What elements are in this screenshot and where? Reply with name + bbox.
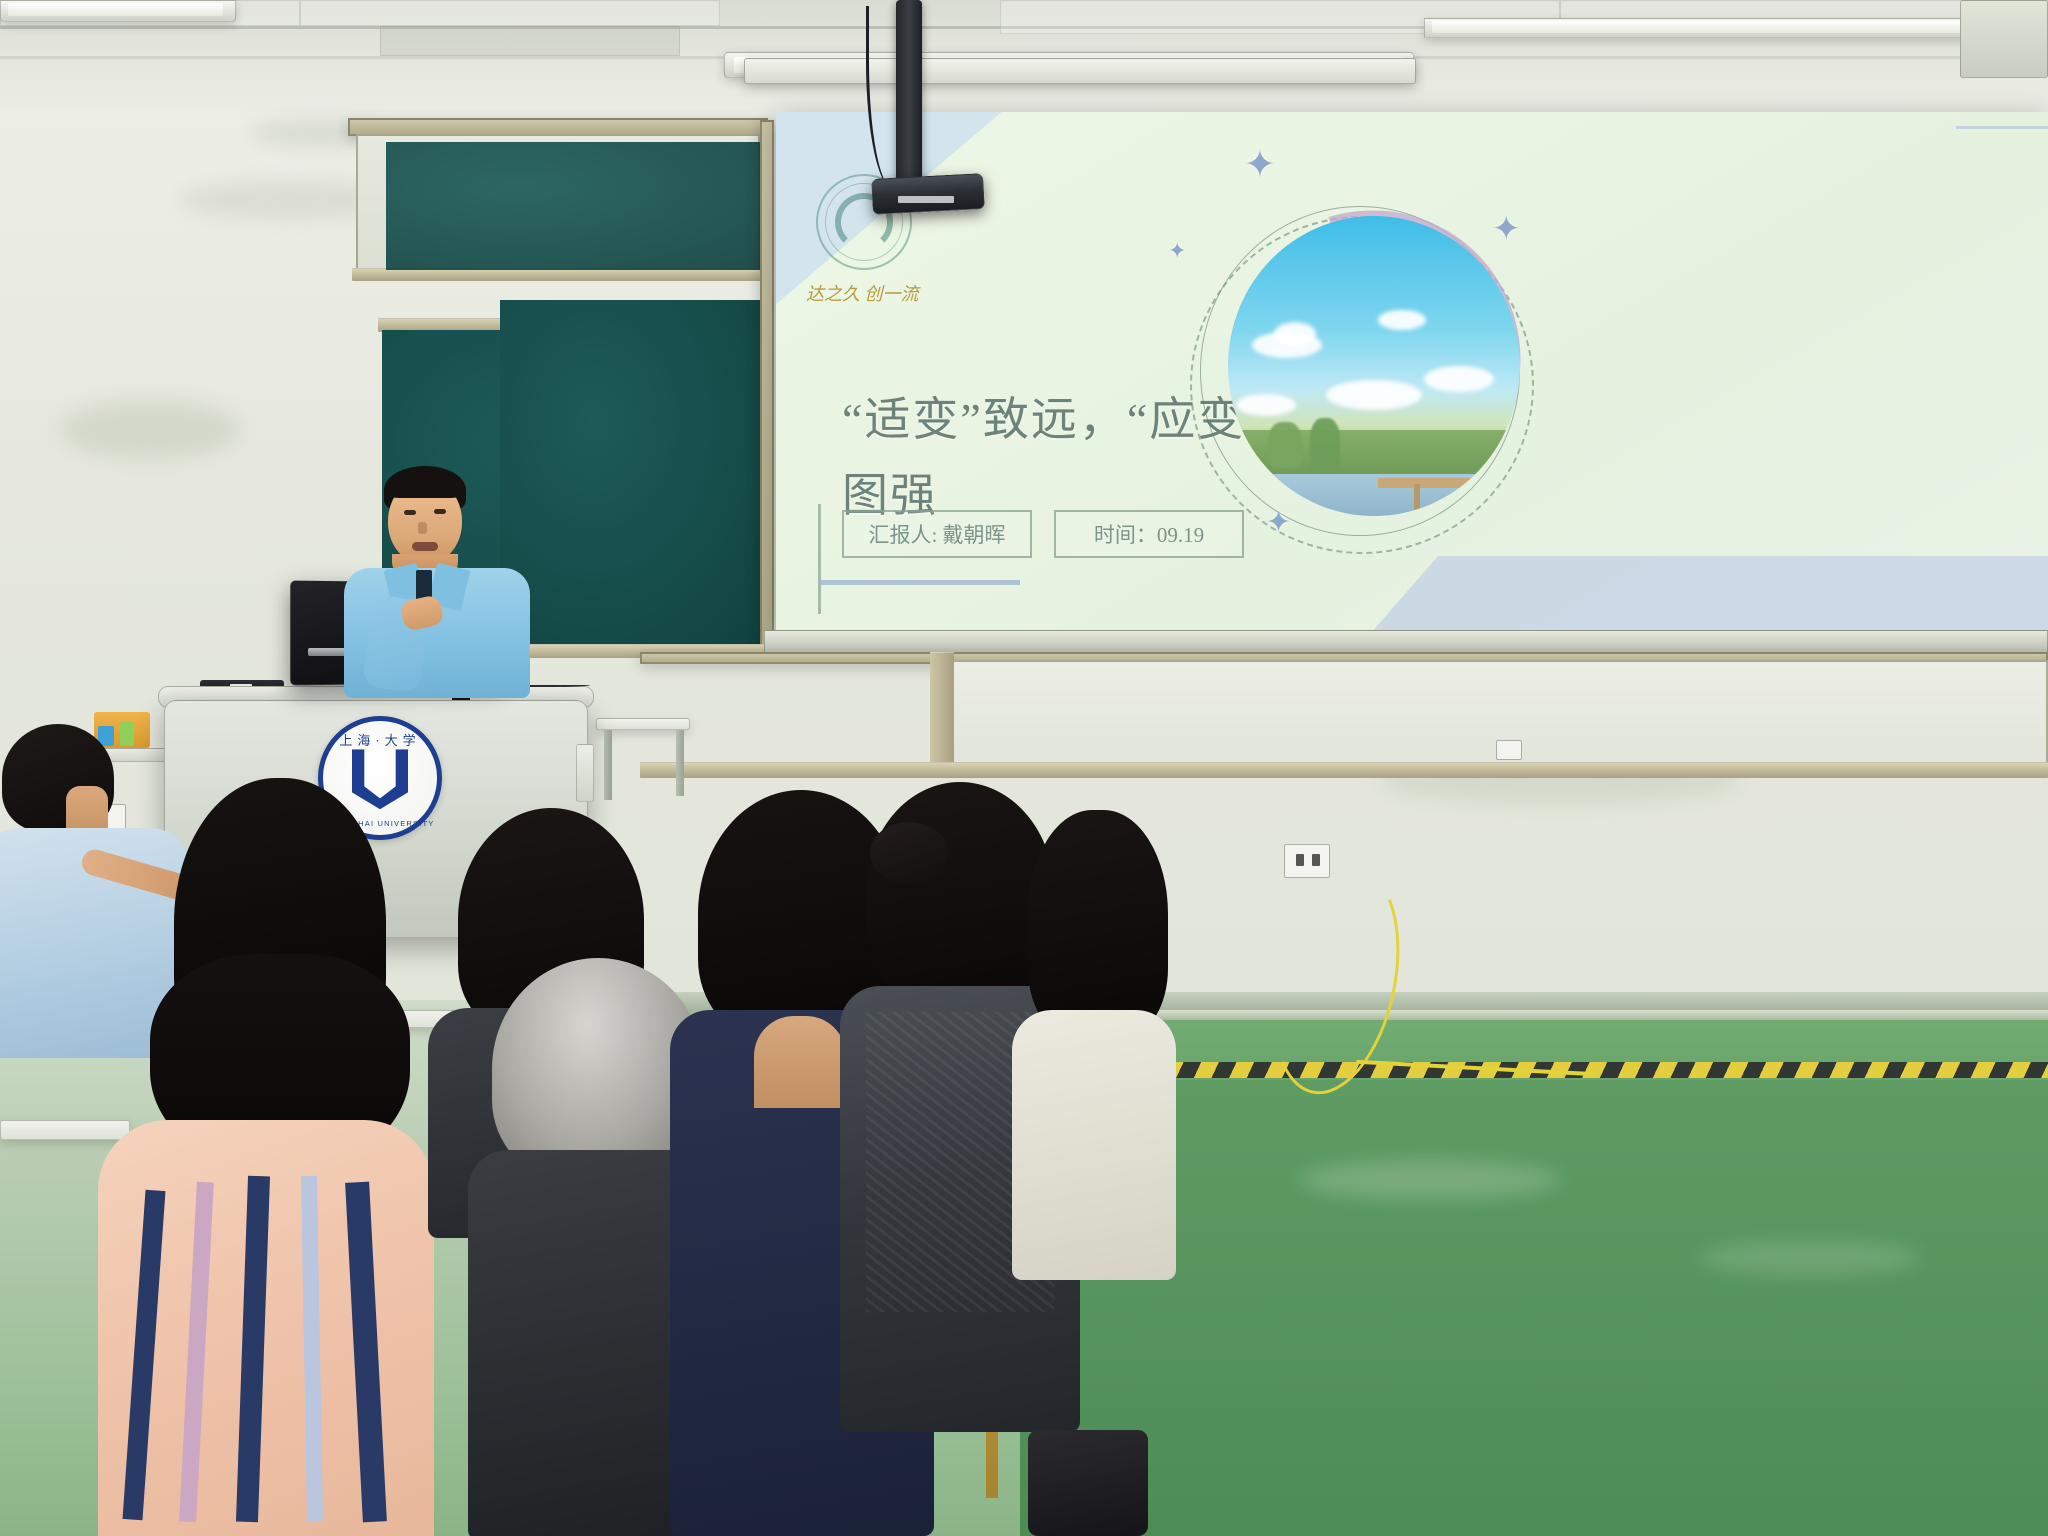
floor-platform-edge [1030,1010,2048,1020]
slide-underline [820,580,1020,585]
sparkle-icon: ✦ [1168,240,1186,262]
slide-top-rule [1956,126,2048,129]
wall-outlet-panel [1284,844,1330,878]
presenter-info-box: 汇报人: 戴朝晖 [842,510,1032,558]
podium-side-panel [576,744,594,802]
wall-panel [940,660,2048,766]
slide-info-divider [818,504,821,614]
neck [754,1016,846,1108]
wall-outlet [1496,740,1522,760]
sparkle-icon: ✦ [1266,508,1291,538]
handbag [1028,1430,1148,1536]
seal-motto: 达之久 创一流 [806,280,919,306]
screen-bottom-weight-bar [764,630,2048,654]
presenter-eye [434,509,446,514]
torso [1012,1010,1176,1280]
chalkboard-upper [386,142,768,270]
sparkle-icon: ✦ [1244,146,1276,184]
slide-footer-band [1370,556,2048,632]
chalkboard-main [500,300,768,646]
hair [1028,810,1168,1036]
campus-photo [1228,216,1520,516]
classroom-photo: 达之久 创一流 “适变”致远，“应变” 图强 汇报人: 戴朝晖 时间：09.19 [0,0,2048,1536]
screen-housing [744,58,1416,84]
presenter-mouth [412,542,438,551]
projector-head [871,173,985,215]
ceiling-panel [380,26,680,56]
ceiling-panel [300,0,720,26]
presenter [330,458,540,698]
audience-member [1012,810,1180,1280]
date-info-box: 时间：09.19 [1054,510,1244,558]
sparkle-icon: ✦ [1492,212,1521,246]
wall-trim-vertical [930,652,954,766]
audience-member [92,778,440,1536]
air-vent [1960,0,2048,78]
chalkboard-side-frame [760,120,774,650]
projector-label [898,196,954,203]
student-desk [596,718,690,730]
hair-bun [870,822,948,884]
presenter-eye [404,510,416,515]
logo-chinese-text: 上海·大学 [323,730,437,749]
